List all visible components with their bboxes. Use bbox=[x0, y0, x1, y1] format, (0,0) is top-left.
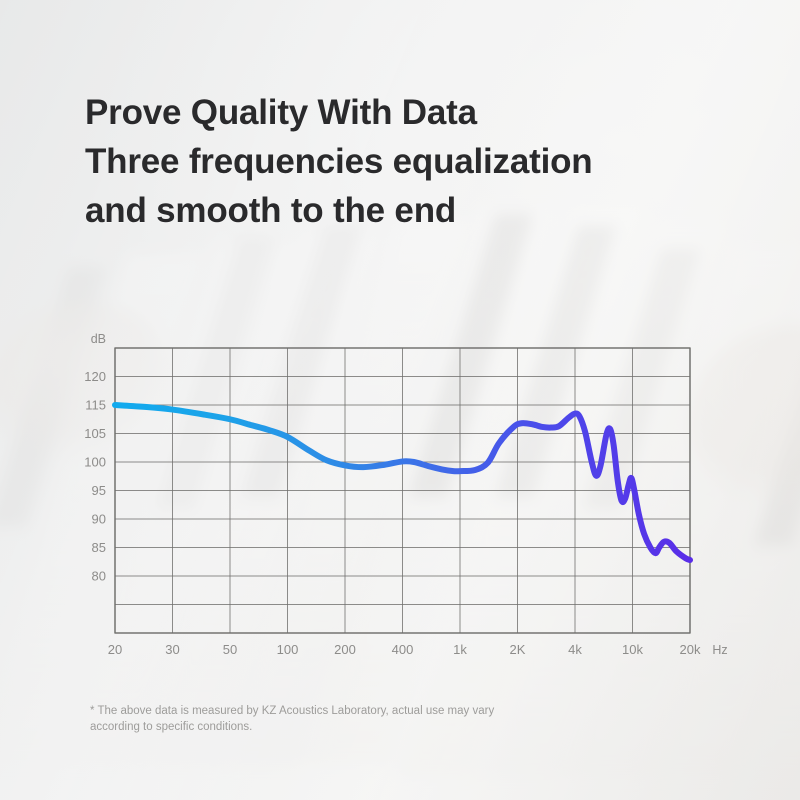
chart-x-axis-labels: 2030501002004001k2K4k10k20kHz bbox=[108, 642, 728, 657]
chart-gridlines bbox=[115, 348, 690, 633]
svg-text:2K: 2K bbox=[510, 642, 526, 657]
svg-text:80: 80 bbox=[92, 569, 106, 584]
chart-y-axis-labels: dB12011510510095908580 bbox=[84, 332, 106, 584]
svg-text:20k: 20k bbox=[680, 642, 701, 657]
svg-text:10k: 10k bbox=[622, 642, 643, 657]
frequency-response-chart: dB12011510510095908580 2030501002004001k… bbox=[0, 0, 800, 800]
svg-text:100: 100 bbox=[84, 455, 106, 470]
svg-text:120: 120 bbox=[84, 369, 106, 384]
svg-text:95: 95 bbox=[92, 483, 106, 498]
svg-text:85: 85 bbox=[92, 540, 106, 555]
svg-text:Hz: Hz bbox=[712, 643, 727, 657]
svg-text:200: 200 bbox=[334, 642, 356, 657]
svg-text:100: 100 bbox=[277, 642, 299, 657]
svg-text:90: 90 bbox=[92, 512, 106, 527]
svg-text:400: 400 bbox=[392, 642, 414, 657]
svg-text:105: 105 bbox=[84, 426, 106, 441]
svg-text:1k: 1k bbox=[453, 642, 467, 657]
svg-text:30: 30 bbox=[165, 642, 179, 657]
svg-text:50: 50 bbox=[223, 642, 237, 657]
svg-text:115: 115 bbox=[85, 398, 106, 413]
svg-text:dB: dB bbox=[91, 332, 106, 346]
svg-text:4k: 4k bbox=[568, 642, 582, 657]
chart-svg: dB12011510510095908580 2030501002004001k… bbox=[0, 0, 800, 800]
chart-footnote: * The above data is measured by KZ Acous… bbox=[90, 703, 610, 735]
svg-text:20: 20 bbox=[108, 642, 122, 657]
